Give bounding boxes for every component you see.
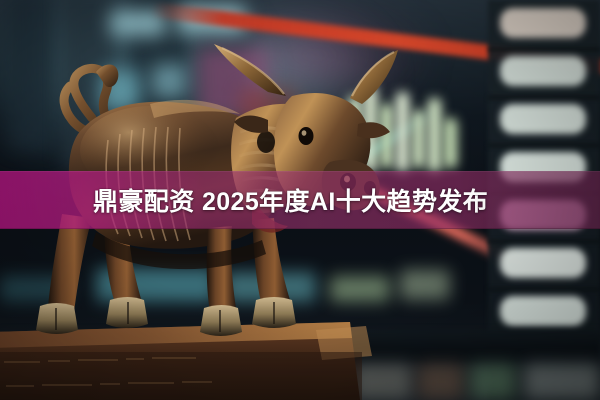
bottom-light-strip [524, 364, 600, 400]
lower-light-strip [400, 270, 450, 300]
candlestick-bar [412, 110, 425, 168]
headline-text: 鼎豪配资 2025年度AI十大趋势发布 [93, 182, 488, 218]
ticker-row-separator [488, 96, 600, 99]
ticker-row [500, 248, 586, 278]
ticker-row-separator [488, 288, 600, 291]
candlestick-bar [428, 98, 441, 172]
ticker-row [500, 8, 586, 38]
bull-eye-highlight [302, 130, 307, 136]
bull-horn-left [214, 44, 286, 96]
hoof-front-far [200, 305, 242, 336]
ticker-row [500, 56, 586, 86]
headline-banner: 鼎豪配资 2025年度AI十大趋势发布 [0, 171, 600, 229]
bull-ear-right [357, 122, 390, 138]
bottom-light-strip [418, 364, 464, 400]
hoof-hind-near [106, 297, 148, 328]
ticker-row [500, 296, 586, 326]
ticker-row-separator [488, 144, 600, 147]
hoof-hind-far [36, 303, 78, 334]
bull-eye-right [299, 127, 314, 145]
bull-horn-right [350, 50, 398, 104]
bull-eye-left [257, 131, 275, 153]
ticker-row-separator [488, 240, 600, 243]
ticker-row-separator [488, 48, 600, 51]
candlestick-bar [444, 118, 457, 168]
bottom-light-strip [470, 364, 516, 400]
promo-image: 鼎豪配资 2025年度AI十大趋势发布 [0, 0, 600, 400]
ticker-row [500, 104, 586, 134]
